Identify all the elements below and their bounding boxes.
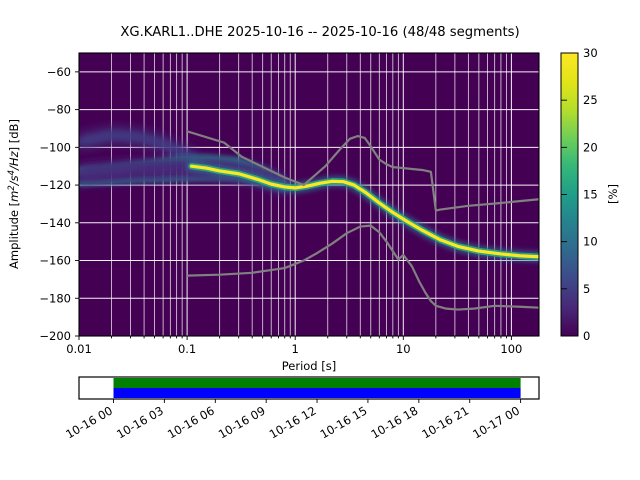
psd-coverage-bar: [114, 388, 521, 398]
x-tick-label: 0.01: [66, 342, 92, 356]
colorbar-tick-label: 30: [583, 46, 598, 60]
timeline-bars: [114, 378, 521, 398]
colorbar-tick-label: 20: [583, 140, 598, 154]
segment-coverage-bar: [114, 378, 521, 388]
y-tick-label: −60: [47, 65, 71, 79]
ppsd-figure: XG.KARL1..DHE 2025-10-16 -- 2025-10-16 (…: [0, 0, 640, 480]
colorbar-tick-label: 10: [583, 235, 598, 249]
x-axis-label: Period [s]: [282, 359, 336, 373]
x-tick-label: 10: [396, 342, 411, 356]
plot-axes: 0.010.1110100 −60−80−100−120−140−160−180…: [7, 53, 539, 373]
y-tick-label: −200: [39, 329, 71, 343]
axes-background: [79, 53, 539, 336]
y-tick-label: −160: [39, 254, 71, 268]
colorbar-tick-label: 0: [583, 329, 590, 343]
x-tick-label: 1: [292, 342, 299, 356]
y-tick-label: −180: [39, 291, 71, 305]
colorbar-tick-label: 25: [583, 93, 598, 107]
y-tick-label: −140: [39, 216, 71, 230]
x-tick-label: 100: [500, 342, 522, 356]
colorbar-tick-label: 15: [583, 188, 598, 202]
y-tick-label: −120: [39, 178, 71, 192]
y-tick-label: −100: [39, 140, 71, 154]
colorbar-tick-label: 5: [583, 282, 590, 296]
colorbar-label: [%]: [606, 184, 620, 204]
x-tick-label: 0.1: [178, 342, 196, 356]
y-axis-label: Amplitude [m2/s4/Hz] [dB]: [7, 119, 21, 269]
y-tick-label: −80: [47, 103, 71, 117]
page-title: XG.KARL1..DHE 2025-10-16 -- 2025-10-16 (…: [120, 25, 519, 40]
